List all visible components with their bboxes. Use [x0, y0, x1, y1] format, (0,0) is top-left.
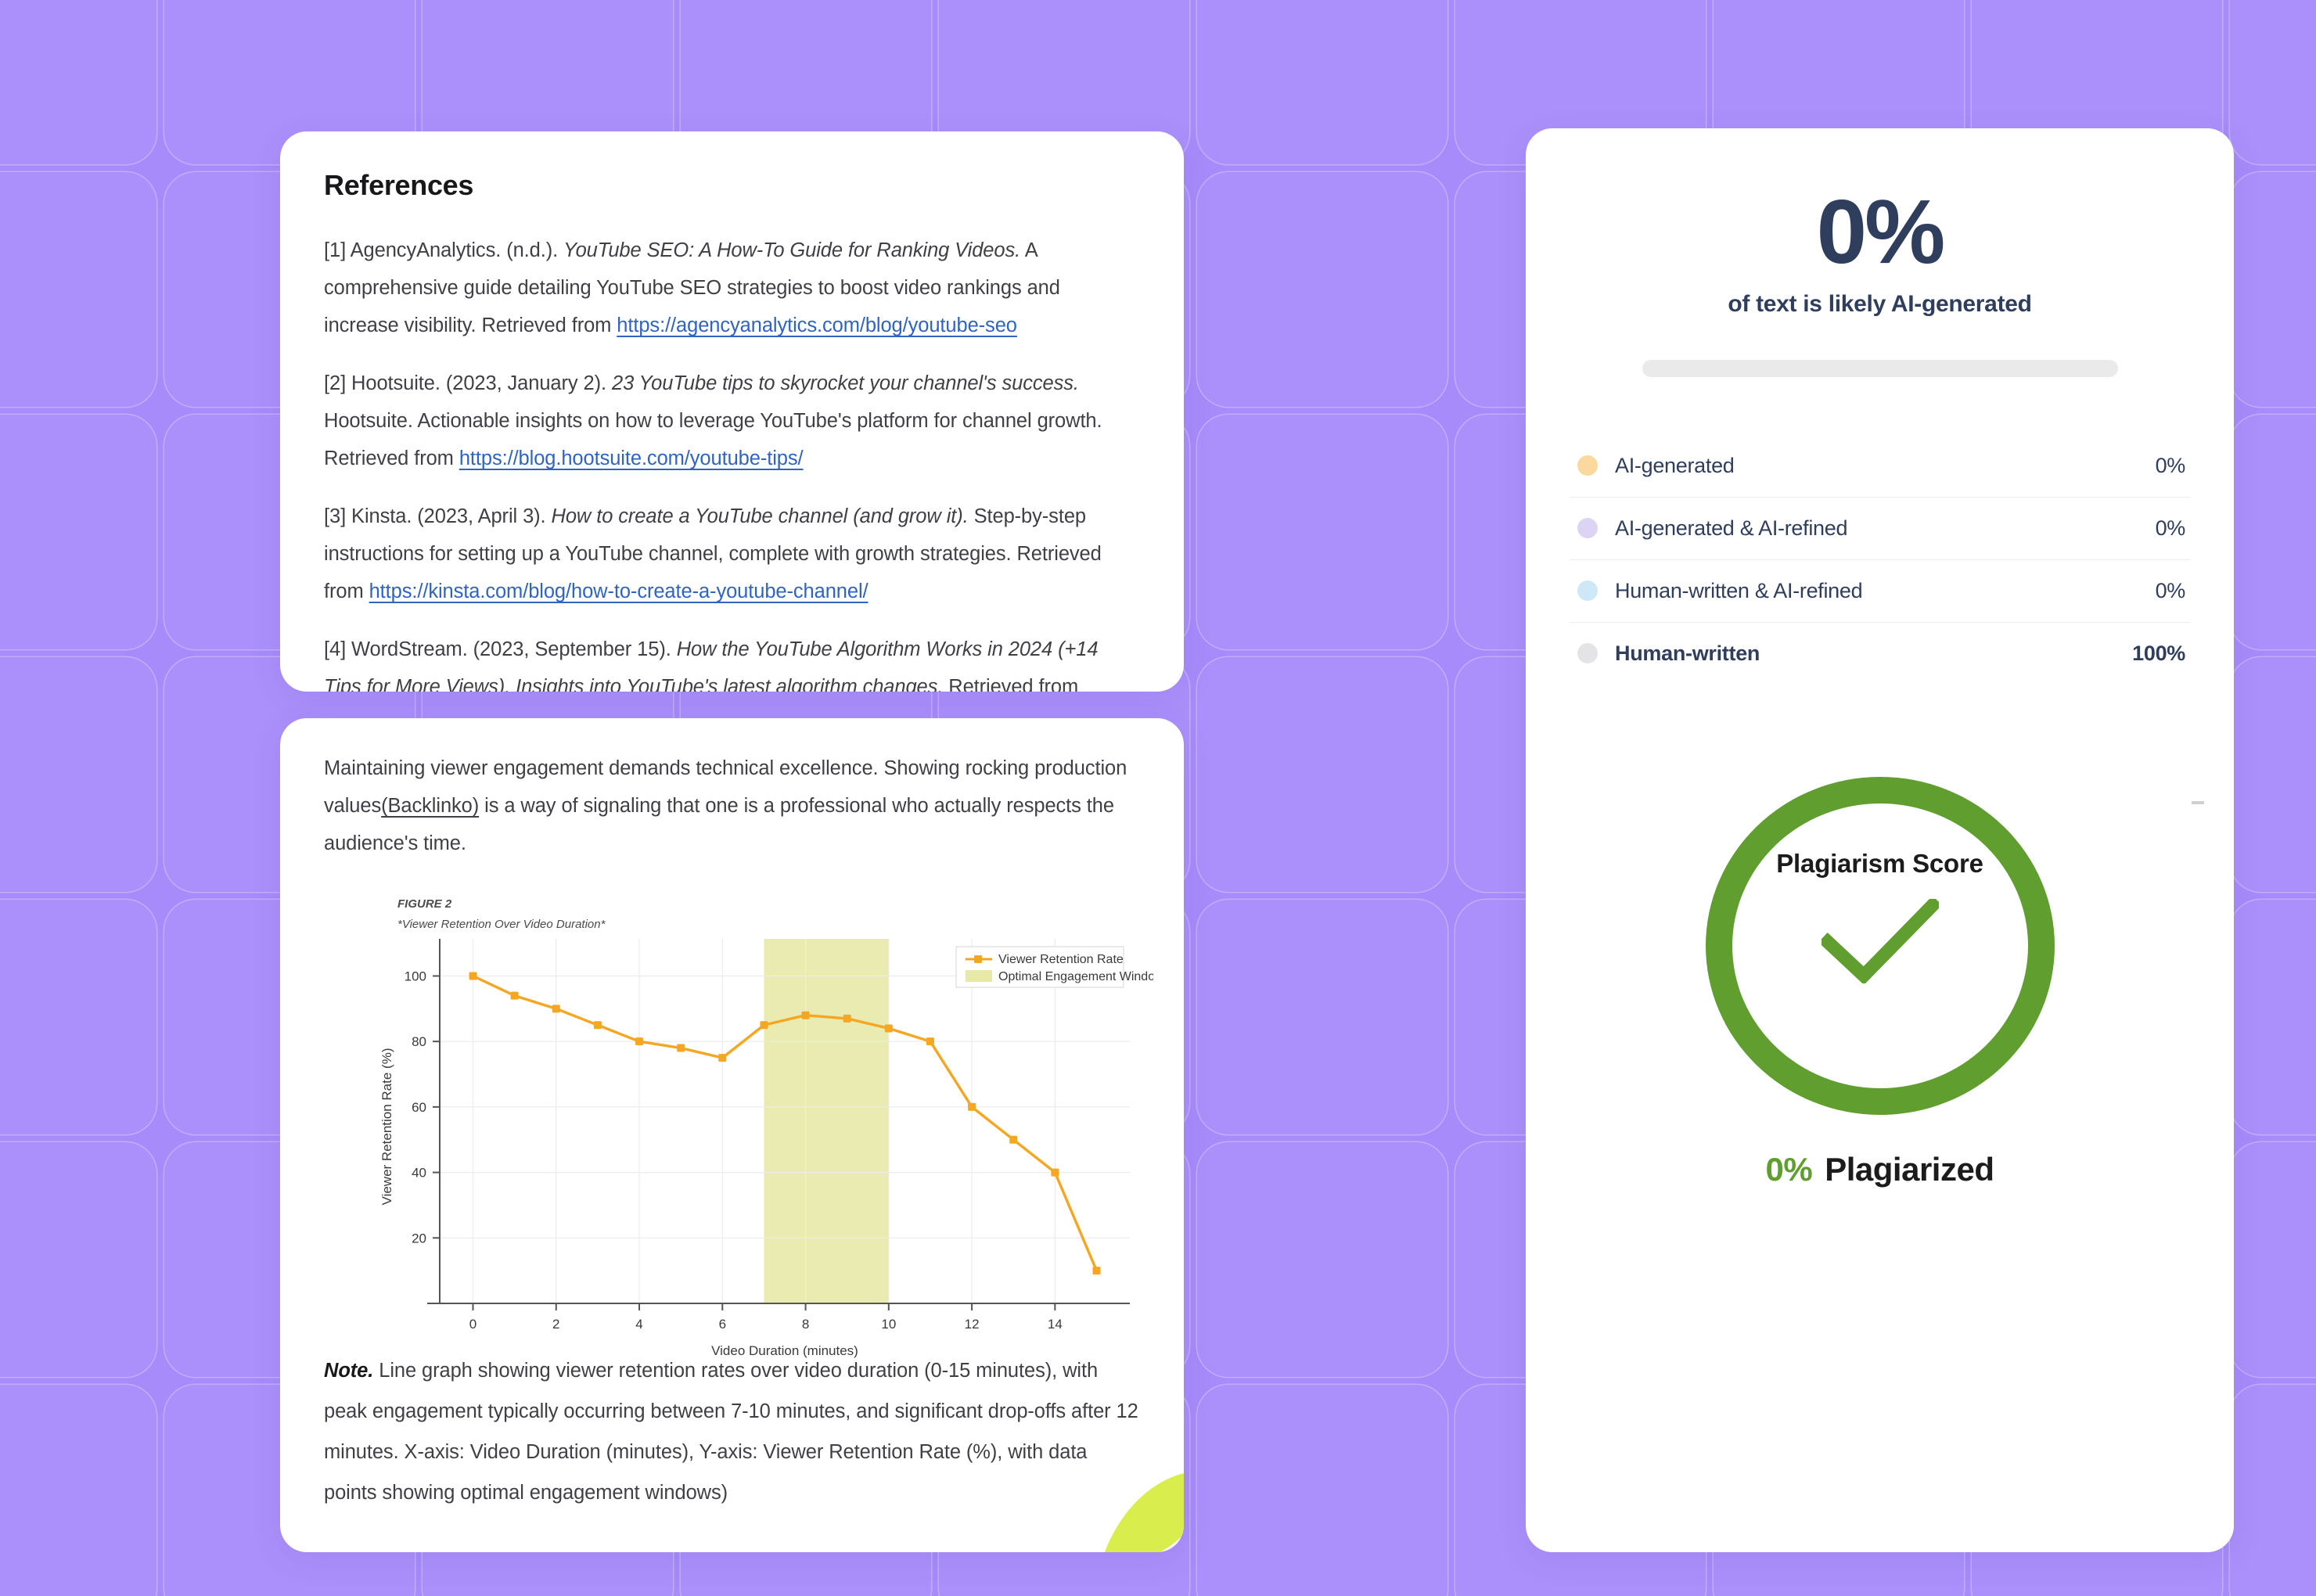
background-tile: [2230, 172, 2316, 407]
svg-text:8: 8: [802, 1317, 809, 1332]
figure-note: Note. Line graph showing viewer retentio…: [324, 1350, 1140, 1513]
background-tile: [2230, 0, 2316, 164]
background-tile: [1197, 900, 1447, 1134]
background-tile: [2230, 415, 2316, 649]
svg-text:12: 12: [965, 1317, 980, 1332]
ai-breakdown-label: AI-generated & AI-refined: [1615, 516, 2156, 541]
figure-note-text: Line graph showing viewer retention rate…: [324, 1360, 1138, 1504]
figure-note-label: Note.: [324, 1360, 373, 1382]
ai-breakdown-value: 0%: [2156, 516, 2185, 541]
reference-index: [4]: [324, 638, 346, 660]
reference-link[interactable]: https://agencyanalytics.com/blog/youtube…: [617, 315, 1017, 336]
plagiarism-summary: 0%Plagiarized: [1570, 1151, 2190, 1188]
reference-index: [2]: [324, 372, 346, 394]
background-tile: [1197, 415, 1447, 649]
background-tile: [0, 0, 156, 164]
category-dot-icon: [1577, 455, 1598, 476]
inline-citation-backlinko[interactable]: (Backlinko): [381, 795, 479, 817]
svg-text:*Viewer Retention Over Video D: *Viewer Retention Over Video Duration*: [397, 918, 606, 931]
reference-link[interactable]: https://blog.hootsuite.com/youtube-tips/: [459, 448, 804, 469]
reference-source: AgencyAnalytics. (n.d.).: [346, 239, 563, 261]
svg-text:100: 100: [405, 969, 426, 983]
background-tile: [2230, 1142, 2316, 1377]
svg-text:Viewer Retention Rate (%): Viewer Retention Rate (%): [379, 1048, 394, 1206]
references-title: References: [324, 169, 1140, 202]
svg-text:10: 10: [881, 1317, 896, 1332]
background-tile: [0, 1142, 156, 1377]
background-tile: [1197, 657, 1447, 892]
references-card: References [1] AgencyAnalytics. (n.d.). …: [280, 131, 1184, 692]
ai-breakdown-row: Human-written100%: [1570, 623, 2190, 685]
reference-item: [4] WordStream. (2023, September 15). Ho…: [324, 631, 1140, 692]
plagiarism-block: Plagiarism Score 0%Plagiarized: [1570, 777, 2190, 1188]
plagiarism-percent: 0%: [1766, 1151, 1813, 1188]
reference-item: [3] Kinsta. (2023, April 3). How to crea…: [324, 498, 1140, 610]
background-tile: [1197, 0, 1447, 164]
reference-source: WordStream. (2023, September 15).: [346, 638, 677, 660]
reference-title: How to create a YouTube channel (and gro…: [552, 505, 969, 527]
ai-score-caption: of text is likely AI-generated: [1570, 291, 2190, 318]
background-tile: [0, 657, 156, 892]
background-tile: [2230, 900, 2316, 1134]
svg-text:0: 0: [469, 1317, 477, 1332]
figure-card: Maintaining viewer engagement demands te…: [280, 718, 1184, 1552]
plagiarism-score-ring: Plagiarism Score: [1706, 777, 2055, 1115]
scroll-marker: [2192, 801, 2204, 804]
references-list: [1] AgencyAnalytics. (n.d.). YouTube SEO…: [324, 232, 1140, 692]
ai-breakdown-row: AI-generated0%: [1570, 435, 2190, 498]
references-content: References [1] AgencyAnalytics. (n.d.). …: [280, 131, 1184, 692]
reference-index: [1]: [324, 239, 346, 261]
reference-item: [2] Hootsuite. (2023, January 2). 23 You…: [324, 365, 1140, 477]
ai-breakdown-value: 0%: [2156, 579, 2185, 603]
chart-svg: FIGURE 2*Viewer Retention Over Video Dur…: [355, 890, 1153, 1391]
plagiarism-label: Plagiarized: [1825, 1151, 1994, 1188]
background-tile: [1197, 1142, 1447, 1377]
figure-paragraph: Maintaining viewer engagement demands te…: [324, 749, 1140, 862]
background-tile: [1197, 1385, 1447, 1596]
reference-title: 23 YouTube tips to skyrocket your channe…: [612, 372, 1079, 394]
svg-text:40: 40: [412, 1166, 426, 1181]
background-tile: [2230, 1385, 2316, 1596]
svg-text:60: 60: [412, 1100, 426, 1115]
reference-item: [1] AgencyAnalytics. (n.d.). YouTube SEO…: [324, 232, 1140, 344]
ai-breakdown-label: Human-written & AI-refined: [1615, 579, 2156, 603]
category-dot-icon: [1577, 518, 1598, 538]
viewer-retention-chart: FIGURE 2*Viewer Retention Over Video Dur…: [355, 890, 1153, 1391]
svg-text:Optimal Engagement Window: Optimal Engagement Window: [998, 970, 1153, 983]
ai-breakdown-list: AI-generated0%AI-generated & AI-refined0…: [1570, 435, 2190, 685]
reference-index: [3]: [324, 505, 346, 527]
background-tile: [2230, 657, 2316, 892]
figure-content: Maintaining viewer engagement demands te…: [280, 718, 1184, 1552]
reference-link[interactable]: https://kinsta.com/blog/how-to-create-a-…: [369, 581, 868, 602]
svg-text:20: 20: [412, 1231, 426, 1246]
ai-breakdown-row: AI-generated & AI-refined0%: [1570, 498, 2190, 560]
reference-source: Hootsuite. (2023, January 2).: [346, 372, 612, 394]
svg-text:FIGURE 2: FIGURE 2: [397, 897, 452, 911]
category-dot-icon: [1577, 581, 1598, 601]
background-tile: [0, 900, 156, 1134]
background-tile: [0, 415, 156, 649]
ai-score-value: 0%: [1570, 185, 2190, 280]
ai-analysis-card: 0% of text is likely AI-generated AI-gen…: [1526, 128, 2234, 1552]
reference-title: YouTube SEO: A How-To Guide for Ranking …: [563, 239, 1020, 261]
plagiarism-ring-title: Plagiarism Score: [1776, 849, 1983, 879]
reference-source: Kinsta. (2023, April 3).: [346, 505, 551, 527]
svg-text:Viewer Retention Rate: Viewer Retention Rate: [998, 953, 1124, 966]
ai-breakdown-row: Human-written & AI-refined0%: [1570, 560, 2190, 623]
background-tile: [1197, 172, 1447, 407]
ai-breakdown-value: 0%: [2156, 454, 2185, 478]
background-tile: [0, 1385, 156, 1596]
ai-breakdown-label: Human-written: [1615, 642, 2132, 666]
ai-progress-bar: [1642, 360, 2118, 377]
svg-text:2: 2: [552, 1317, 559, 1332]
svg-text:6: 6: [719, 1317, 726, 1332]
check-icon: [1822, 899, 1939, 987]
svg-text:14: 14: [1048, 1317, 1063, 1332]
background-tile: [0, 172, 156, 407]
ai-breakdown-value: 100%: [2132, 642, 2185, 666]
svg-text:4: 4: [635, 1317, 642, 1332]
category-dot-icon: [1577, 643, 1598, 663]
ai-analysis-content: 0% of text is likely AI-generated AI-gen…: [1526, 128, 2234, 1552]
reference-description: Retrieved from: [943, 676, 1078, 692]
ai-breakdown-label: AI-generated: [1615, 454, 2156, 478]
svg-text:80: 80: [412, 1034, 426, 1049]
